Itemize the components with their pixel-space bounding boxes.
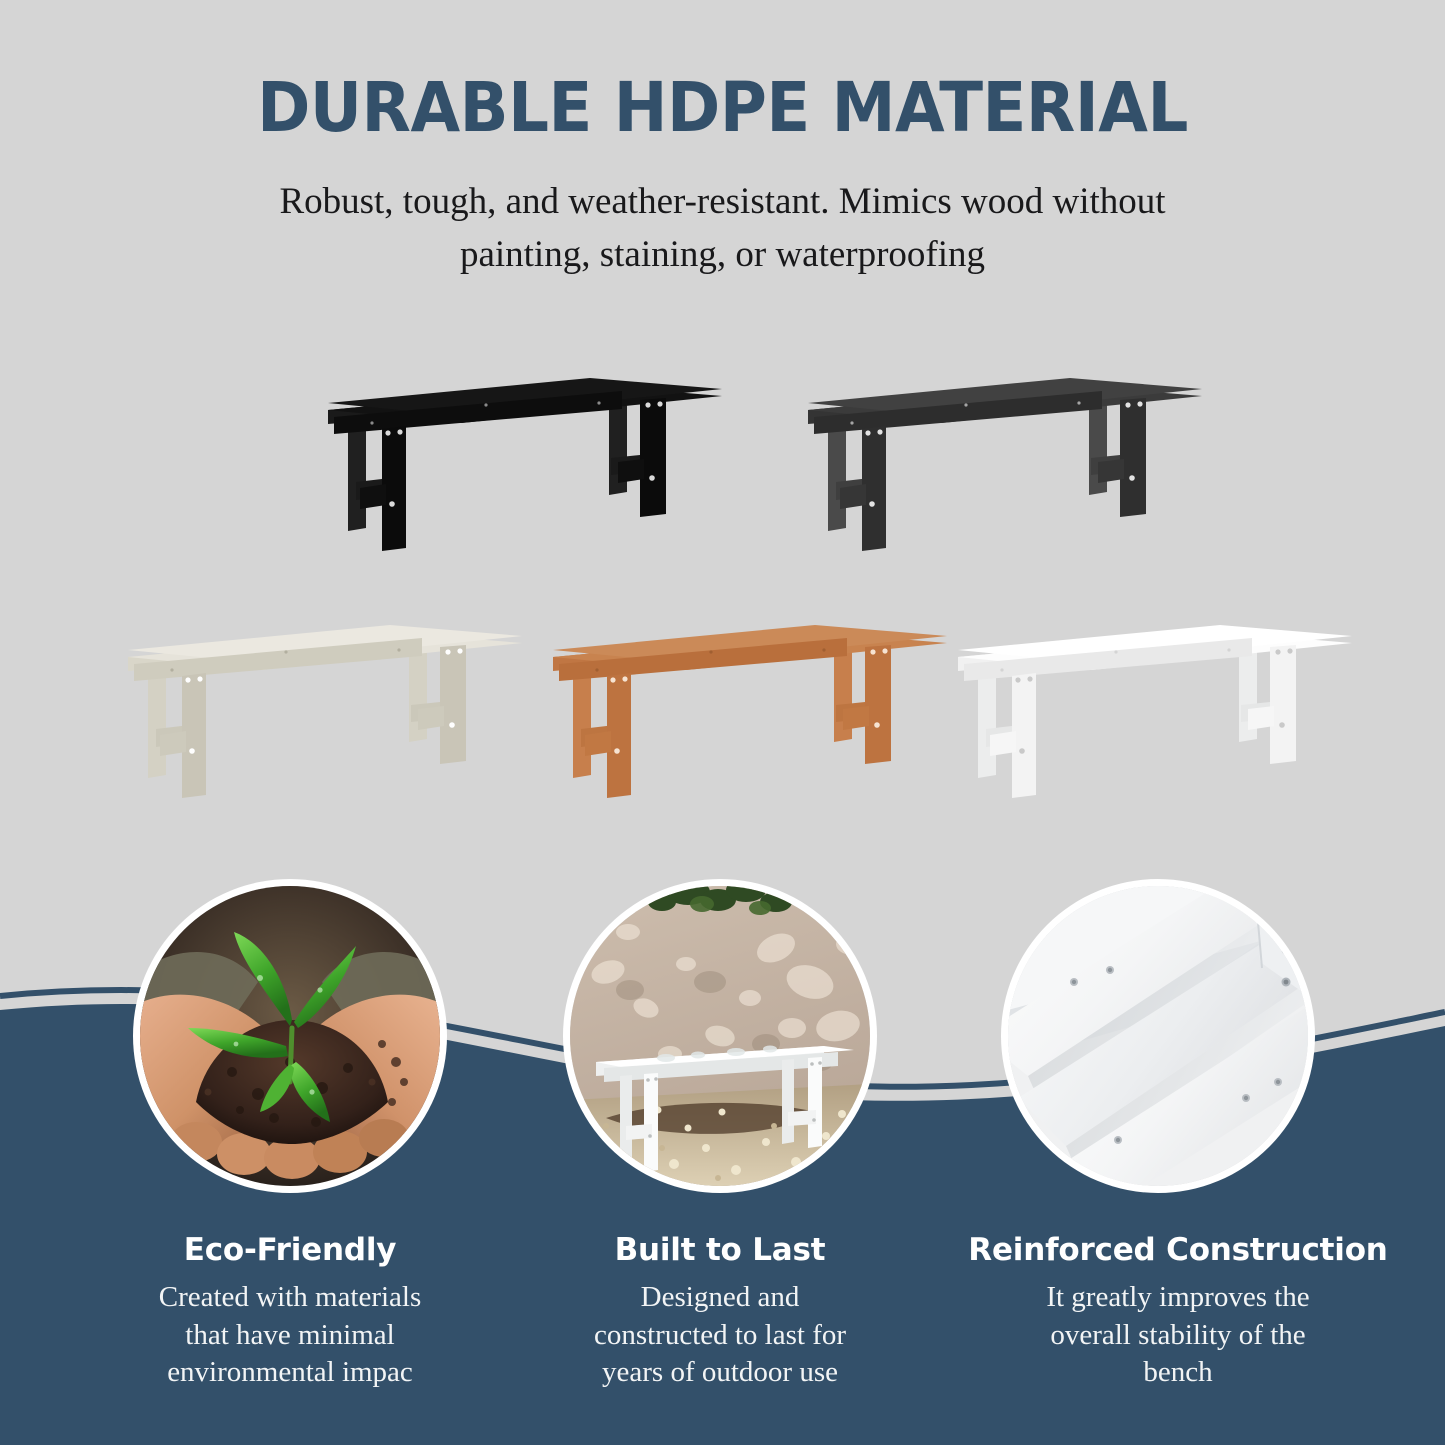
feature-body-reinforced: It greatly improves the overall stabilit… <box>960 1279 1396 1392</box>
feature-body-reinforced-line-2: overall stability of the <box>960 1317 1396 1355</box>
feature-image-eco <box>140 886 440 1186</box>
bench-black[interactable] <box>322 372 722 552</box>
infographic-canvas: DURABLE HDPE MATERIAL Robust, tough, and… <box>0 0 1445 1445</box>
feature-image-durability <box>570 886 870 1186</box>
bench-dark-gray[interactable] <box>802 372 1202 552</box>
feature-title-reinforced: Reinforced Construction <box>960 1232 1396 1268</box>
bench-white[interactable] <box>952 614 1352 804</box>
bench-beige-body <box>128 625 522 798</box>
feature-image-construction <box>1008 886 1308 1186</box>
feature-body-built-line-3: years of outdoor use <box>552 1354 888 1392</box>
bench-black-body <box>328 378 722 551</box>
feature-body-built-line-2: constructed to last for <box>552 1317 888 1355</box>
feature-reinforced-construction: Reinforced Construction It greatly impro… <box>960 1232 1396 1392</box>
page-title: DURABLE HDPE MATERIAL <box>51 72 1395 144</box>
feature-body-eco: Created with materials that have minimal… <box>112 1279 468 1392</box>
feature-body-reinforced-line-1: It greatly improves the <box>960 1279 1396 1317</box>
feature-body-eco-line-2: that have minimal <box>112 1317 468 1355</box>
feature-eco-friendly: Eco-Friendly Created with materials that… <box>112 1232 468 1392</box>
feature-body-built: Designed and constructed to last for yea… <box>552 1279 888 1392</box>
feature-built-to-last: Built to Last Designed and constructed t… <box>552 1232 888 1392</box>
feature-body-eco-line-1: Created with materials <box>112 1279 468 1317</box>
feature-body-built-line-1: Designed and <box>552 1279 888 1317</box>
bench-beige[interactable] <box>122 614 522 804</box>
bench-cedar[interactable] <box>547 614 947 804</box>
subtitle-line-1: Robust, tough, and weather-resistant. Mi… <box>223 176 1223 229</box>
subtitle-line-2: painting, staining, or waterproofing <box>223 229 1223 282</box>
bench-dark-gray-body <box>808 378 1202 551</box>
bench-white-body <box>958 625 1352 798</box>
page-subtitle: Robust, tough, and weather-resistant. Mi… <box>223 176 1223 281</box>
feature-body-reinforced-line-3: bench <box>960 1354 1396 1392</box>
feature-title-built: Built to Last <box>552 1232 888 1268</box>
feature-body-eco-line-3: environmental impac <box>112 1354 468 1392</box>
feature-title-eco: Eco-Friendly <box>112 1232 468 1268</box>
bench-cedar-body <box>553 625 947 798</box>
